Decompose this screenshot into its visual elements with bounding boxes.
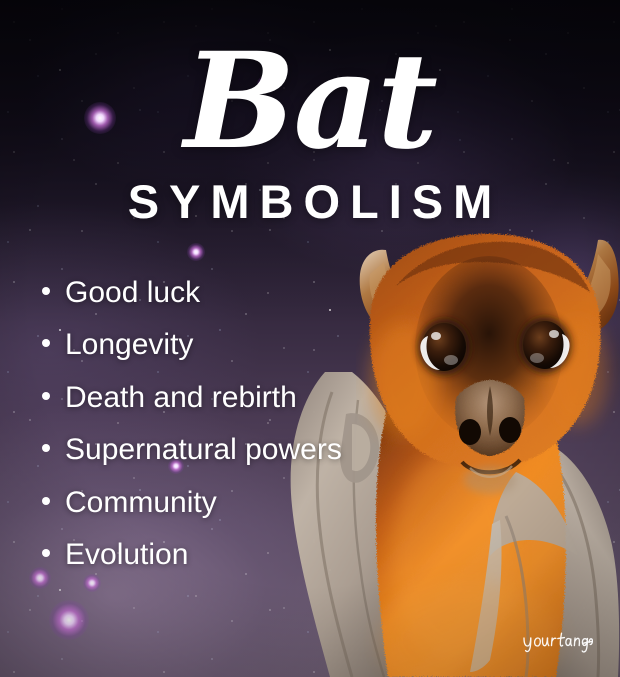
list-item: Good luck (38, 278, 508, 330)
list-item: Death and rebirth (38, 383, 508, 435)
list-item-label: Community (65, 486, 217, 519)
bullet-icon (42, 339, 50, 347)
list-item-label: Death and rebirth (65, 381, 297, 414)
bullet-icon (42, 392, 50, 400)
poster-canvas: Bat SYMBOLISM Good luckLongevityDeath an… (0, 0, 620, 677)
yourtango-watermark-logo: YourTango (521, 629, 593, 655)
page-subtitle: SYMBOLISM (0, 178, 620, 225)
list-item-label: Good luck (65, 276, 200, 309)
list-item: Supernatural powers (38, 435, 508, 487)
list-item: Community (38, 488, 508, 540)
bullet-icon (42, 287, 50, 295)
list-item-label: Longevity (65, 328, 193, 361)
symbolism-list: Good luckLongevityDeath and rebirthSuper… (38, 278, 508, 592)
list-item: Longevity (38, 330, 508, 382)
page-title: Bat (0, 36, 620, 168)
list-item-label: Supernatural powers (65, 433, 342, 466)
list-item-label: Evolution (65, 538, 188, 571)
bullet-icon (42, 549, 50, 557)
list-item: Evolution (38, 540, 508, 592)
bullet-icon (42, 444, 50, 452)
bullet-icon (42, 497, 50, 505)
